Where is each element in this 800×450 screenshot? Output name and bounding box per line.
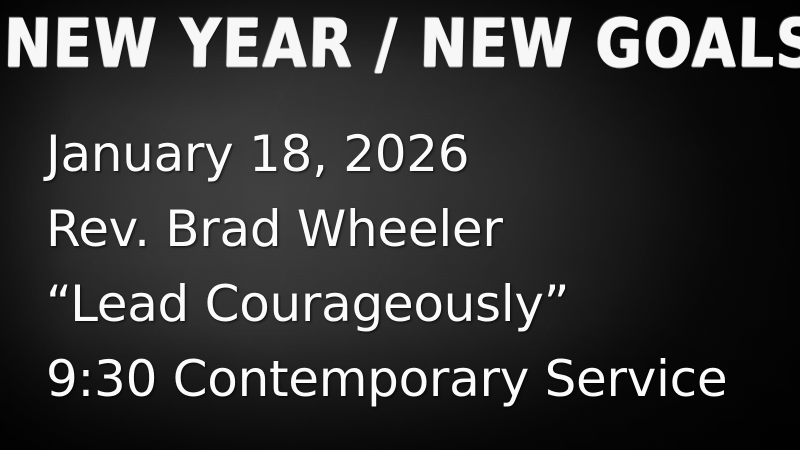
speaker-name: Rev. Brad Wheeler <box>46 192 786 267</box>
service-date: January 18, 2026 <box>46 117 786 192</box>
slide-title-row: New Year / New Goals <box>0 8 800 80</box>
sermon-title: “Lead Courageously” <box>46 267 786 342</box>
announcement-slide: New Year / New Goals January 18, 2026 Re… <box>0 0 800 450</box>
slide-content: New Year / New Goals January 18, 2026 Re… <box>0 0 800 450</box>
slide-detail-list: January 18, 2026 Rev. Brad Wheeler “Lead… <box>46 117 786 417</box>
slide-title: New Year / New Goals <box>3 2 800 87</box>
service-time: 9:30 Contemporary Service <box>46 342 786 417</box>
